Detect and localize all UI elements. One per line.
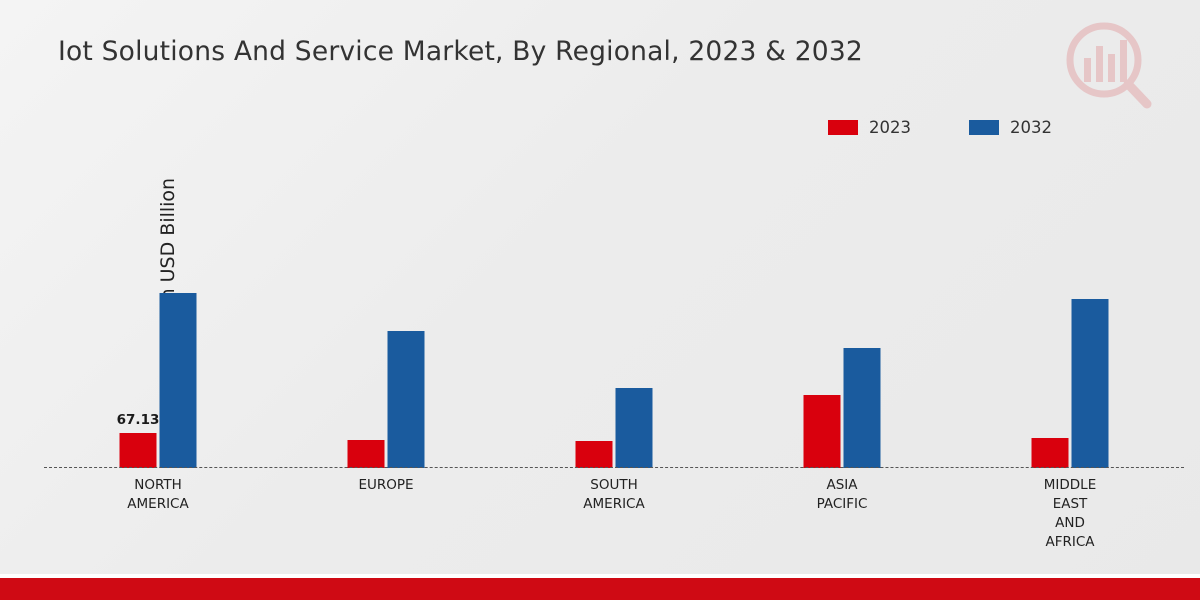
bar-group-asia-pacific xyxy=(728,160,956,468)
chart-title: Iot Solutions And Service Market, By Reg… xyxy=(58,36,863,67)
bar-group-middle-east-and-africa xyxy=(956,160,1184,468)
bar-2023-north-america[interactable] xyxy=(120,433,157,468)
category-label-europe: EUROPE xyxy=(272,476,500,552)
legend-label-2023: 2023 xyxy=(869,118,911,137)
bars-south-america xyxy=(576,160,653,468)
category-label-asia-pacific: ASIA PACIFIC xyxy=(728,476,956,552)
bar-group-south-america xyxy=(500,160,728,468)
category-line: AND xyxy=(956,514,1184,533)
legend-swatch-2032 xyxy=(969,120,999,135)
legend-swatch-2023 xyxy=(828,120,858,135)
brand-watermark-icon xyxy=(1048,18,1158,113)
bars-middle-east-and-africa xyxy=(1032,160,1109,468)
chart-legend: 2023 2032 xyxy=(828,118,1052,137)
category-line: NORTH xyxy=(44,476,272,495)
bar-2032-europe[interactable] xyxy=(388,331,425,468)
legend-item-2023[interactable]: 2023 xyxy=(828,118,911,137)
category-label-middle-east-and-africa: MIDDLE EAST AND AFRICA xyxy=(956,476,1184,552)
bar-2023-asia-pacific[interactable] xyxy=(804,395,841,468)
category-line: PACIFIC xyxy=(728,495,956,514)
category-line: AMERICA xyxy=(500,495,728,514)
bar-group-north-america: 67.13 xyxy=(44,160,272,468)
category-line: MIDDLE xyxy=(956,476,1184,495)
category-line: SOUTH xyxy=(500,476,728,495)
plot-area: 67.13 xyxy=(44,160,1184,468)
category-line: AMERICA xyxy=(44,495,272,514)
category-line: AFRICA xyxy=(956,533,1184,552)
legend-item-2032[interactable]: 2032 xyxy=(969,118,1052,137)
legend-label-2032: 2032 xyxy=(1010,118,1052,137)
footer-accent-bar xyxy=(0,578,1200,600)
bar-2032-middle-east-and-africa[interactable] xyxy=(1072,299,1109,468)
bar-2032-south-america[interactable] xyxy=(616,388,653,468)
bar-group-europe xyxy=(272,160,500,468)
x-axis-category-labels: NORTH AMERICA EUROPE SOUTH AMERICA ASIA … xyxy=(44,476,1184,552)
bar-2023-middle-east-and-africa[interactable] xyxy=(1032,438,1069,468)
category-label-north-america: NORTH AMERICA xyxy=(44,476,272,552)
chart-page: Iot Solutions And Service Market, By Reg… xyxy=(0,0,1200,600)
category-line: ASIA xyxy=(728,476,956,495)
category-line: EAST xyxy=(956,495,1184,514)
bar-2032-asia-pacific[interactable] xyxy=(844,348,881,468)
bar-2032-north-america[interactable] xyxy=(160,293,197,468)
category-label-south-america: SOUTH AMERICA xyxy=(500,476,728,552)
category-line: EUROPE xyxy=(272,476,500,495)
bar-groups: 67.13 xyxy=(44,160,1184,468)
x-axis-baseline xyxy=(44,467,1184,468)
bar-2023-europe[interactable] xyxy=(348,440,385,468)
bar-2023-south-america[interactable] xyxy=(576,441,613,468)
bars-asia-pacific xyxy=(804,160,881,468)
bars-europe xyxy=(348,160,425,468)
data-label-north-america-2023: 67.13 xyxy=(117,412,160,428)
